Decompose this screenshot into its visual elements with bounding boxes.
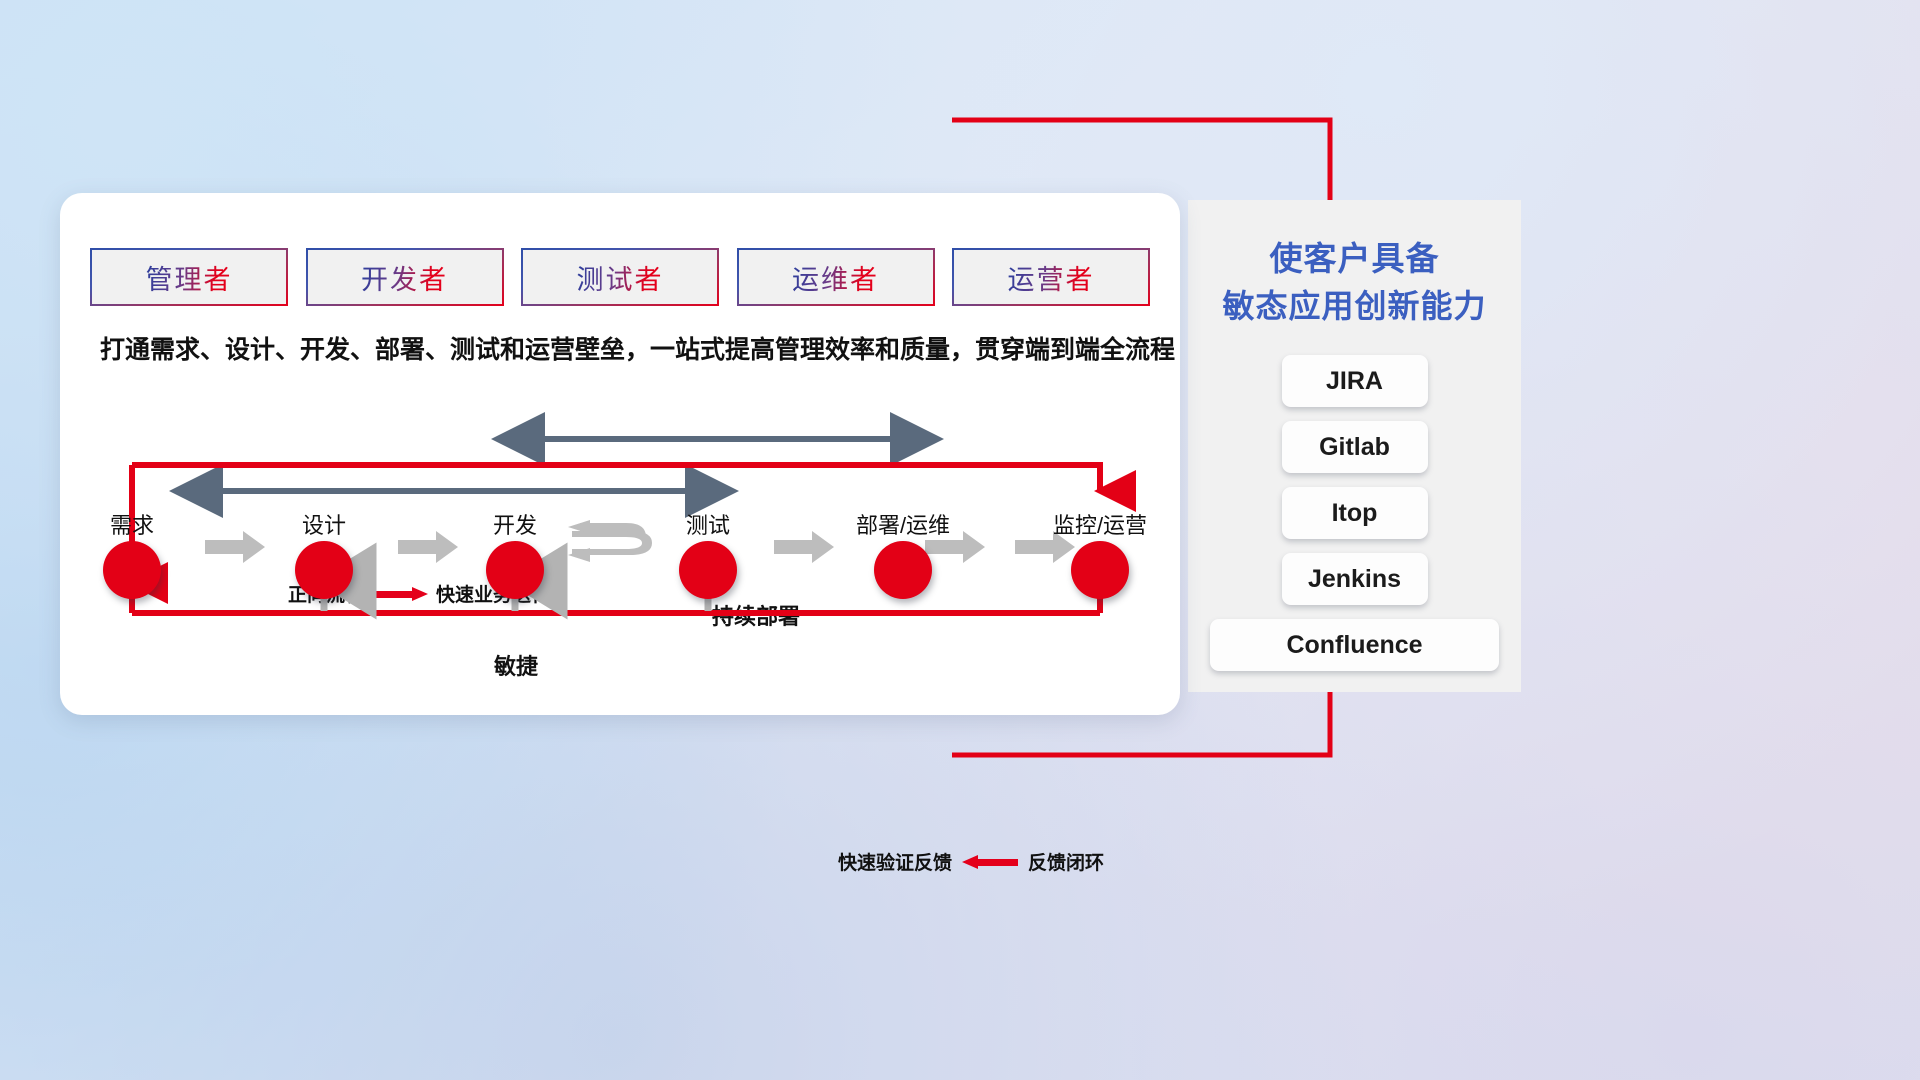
tool-chip-jira[interactable]: JIRA [1282, 355, 1428, 407]
legend-feedback-right-label: 反馈闭环 [1028, 848, 1104, 875]
stage-label-testing: 测试 [686, 508, 730, 540]
stage-label-development: 开发 [493, 508, 537, 540]
stage-dot-requirements[interactable] [103, 541, 161, 599]
stage-label-monitor-operations: 监控/运营 [1053, 508, 1147, 540]
stage-label-design: 设计 [302, 508, 346, 540]
tools-panel-title-line2: 敏态应用创新能力 [1188, 286, 1521, 327]
main-card: 管理者 开发者 测试者 运维者 运营者 打通需求、设计、开发、部署、测试和运营壁… [60, 193, 1180, 715]
tools-panel-title: 使客户具备 敏态应用创新能力 [1188, 200, 1521, 327]
stage-dot-deploy-ops[interactable] [874, 541, 932, 599]
arrow-left-red-icon [962, 855, 1018, 869]
tools-panel-title-line1: 使客户具备 [1270, 240, 1440, 277]
stage-dot-design[interactable] [295, 541, 353, 599]
pipeline-diagram [60, 193, 1180, 715]
stage-dot-development[interactable] [486, 541, 544, 599]
stage-label-requirements: 需求 [110, 508, 154, 540]
legend-feedback-left-label: 快速验证反馈 [838, 848, 952, 875]
stage-label-deploy-ops: 部署/运维 [856, 508, 950, 540]
tool-chip-gitlab[interactable]: Gitlab [1282, 421, 1428, 473]
tool-chip-itop[interactable]: Itop [1282, 487, 1428, 539]
stage-dot-monitor-operations[interactable] [1071, 541, 1129, 599]
tool-chip-grid: JIRA Gitlab Itop Jenkins Confluence [1188, 327, 1521, 671]
stage-dot-testing[interactable] [679, 541, 737, 599]
tool-chip-jenkins[interactable]: Jenkins [1282, 553, 1428, 605]
tool-chip-confluence[interactable]: Confluence [1210, 619, 1499, 671]
legend-feedback-loop: 快速验证反馈 反馈闭环 [838, 848, 1104, 875]
tools-panel: 使客户具备 敏态应用创新能力 JIRA Gitlab Itop Jenkins … [1188, 200, 1521, 692]
